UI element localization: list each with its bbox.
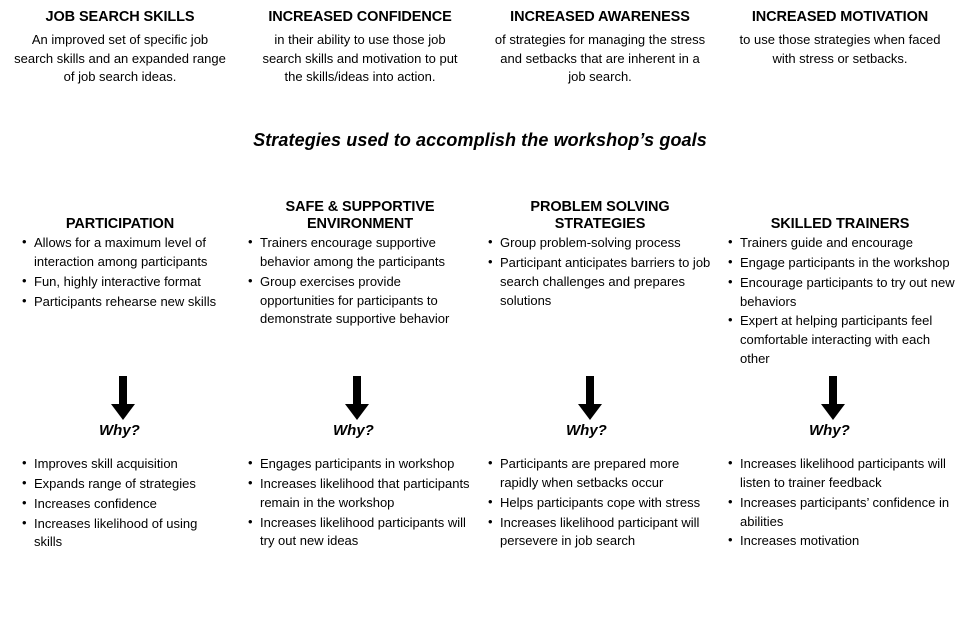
list-item: Improves skill acquisition <box>22 455 228 474</box>
list-item: Increases likelihood participants will l… <box>728 455 958 493</box>
list-item: Expert at helping participants feel comf… <box>728 312 958 369</box>
why-connector-row: Why? Why? Why? Why? <box>0 376 960 448</box>
why-label: Why? <box>333 422 374 439</box>
results-list: Participants are prepared more rapidly w… <box>480 455 720 551</box>
list-item: Trainers encourage supportive behavior a… <box>248 234 472 272</box>
why-label: Why? <box>809 422 850 439</box>
list-item: Group exercises provide opportunities fo… <box>248 273 472 330</box>
why-cell-skilled-trainers: Why? <box>720 376 960 448</box>
results-column-participation: Improves skill acquisition Expands range… <box>0 455 240 553</box>
strategy-item-list: Group problem-solving process Participan… <box>480 234 720 310</box>
list-item: Helps participants cope with stress <box>488 494 716 513</box>
why-cell-problem-solving-strategies: Why? <box>480 376 720 448</box>
strategies-grid: PARTICIPATION Allows for a maximum level… <box>0 186 960 370</box>
strategy-column-skilled-trainers: SKILLED TRAINERS Trainers guide and enco… <box>720 186 960 370</box>
results-list: Improves skill acquisition Expands range… <box>0 455 240 552</box>
strategy-header: PARTICIPATION <box>0 186 240 234</box>
list-item: Participant anticipates barriers to job … <box>488 254 716 311</box>
strategy-column-problem-solving-strategies: PROBLEM SOLVING STRATEGIES Group problem… <box>480 186 720 370</box>
list-item: Expands range of strategies <box>22 475 228 494</box>
list-item: Encourage participants to try out new be… <box>728 274 958 312</box>
results-grid: Improves skill acquisition Expands range… <box>0 455 960 553</box>
list-item: Increases likelihood that participants r… <box>248 475 472 513</box>
strategy-header: PROBLEM SOLVING STRATEGIES <box>480 186 720 234</box>
list-item: Engage participants in the workshop <box>728 254 958 273</box>
outcome-description: of strategies for managing the stress an… <box>494 31 706 86</box>
strategy-header: SKILLED TRAINERS <box>720 186 960 234</box>
outcome-description: in their ability to use those job search… <box>254 31 466 86</box>
section-heading: Strategies used to accomplish the worksh… <box>0 130 960 151</box>
diagram-canvas: JOB SEARCH SKILLS An improved set of spe… <box>0 0 960 640</box>
why-label: Why? <box>99 422 140 439</box>
strategy-item-list: Allows for a maximum level of interactio… <box>0 234 240 311</box>
list-item: Allows for a maximum level of interactio… <box>22 234 228 272</box>
outcome-title: JOB SEARCH SKILLS <box>14 8 226 26</box>
results-column-problem-solving-strategies: Participants are prepared more rapidly w… <box>480 455 720 553</box>
list-item: Increases participants’ confidence in ab… <box>728 494 958 532</box>
list-item: Group problem-solving process <box>488 234 716 253</box>
list-item: Increases motivation <box>728 532 958 551</box>
strategy-column-participation: PARTICIPATION Allows for a maximum level… <box>0 186 240 370</box>
strategy-item-list: Trainers guide and encourage Engage part… <box>720 234 960 369</box>
why-label: Why? <box>566 422 607 439</box>
outcome-description: to use those strategies when faced with … <box>734 31 946 68</box>
outcome-column-increased-motivation: INCREASED MOTIVATION to use those strate… <box>720 8 960 86</box>
results-list: Increases likelihood participants will l… <box>720 455 960 551</box>
down-arrow-icon <box>577 376 603 420</box>
strategy-column-safe-supportive-environment: SAFE & SUPPORTIVE ENVIRONMENT Trainers e… <box>240 186 480 370</box>
list-item: Increases confidence <box>22 495 228 514</box>
list-item: Trainers guide and encourage <box>728 234 958 253</box>
down-arrow-icon <box>110 376 136 420</box>
outcome-title: INCREASED AWARENESS <box>494 8 706 26</box>
list-item: Increases likelihood of using skills <box>22 515 228 553</box>
why-cell-safe-supportive-environment: Why? <box>240 376 480 448</box>
list-item: Participants are prepared more rapidly w… <box>488 455 716 493</box>
outcomes-band: JOB SEARCH SKILLS An improved set of spe… <box>0 0 960 86</box>
strategy-header: SAFE & SUPPORTIVE ENVIRONMENT <box>240 186 480 234</box>
results-column-skilled-trainers: Increases likelihood participants will l… <box>720 455 960 553</box>
outcome-title: INCREASED CONFIDENCE <box>254 8 466 26</box>
list-item: Engages participants in workshop <box>248 455 472 474</box>
list-item: Participants rehearse new skills <box>22 293 228 312</box>
outcome-column-increased-confidence: INCREASED CONFIDENCE in their ability to… <box>240 8 480 86</box>
results-list: Engages participants in workshop Increas… <box>240 455 480 551</box>
results-column-safe-supportive-environment: Engages participants in workshop Increas… <box>240 455 480 553</box>
outcome-column-job-search-skills: JOB SEARCH SKILLS An improved set of spe… <box>0 8 240 86</box>
list-item: Increases likelihood participants will t… <box>248 514 472 552</box>
why-cell-participation: Why? <box>0 376 240 448</box>
down-arrow-icon <box>344 376 370 420</box>
outcome-description: An improved set of specific job search s… <box>14 31 226 86</box>
outcome-title: INCREASED MOTIVATION <box>734 8 946 26</box>
list-item: Fun, highly interactive format <box>22 273 228 292</box>
strategy-item-list: Trainers encourage supportive behavior a… <box>240 234 480 329</box>
list-item: Increases likelihood participant will pe… <box>488 514 716 552</box>
down-arrow-icon <box>820 376 846 420</box>
outcome-column-increased-awareness: INCREASED AWARENESS of strategies for ma… <box>480 8 720 86</box>
